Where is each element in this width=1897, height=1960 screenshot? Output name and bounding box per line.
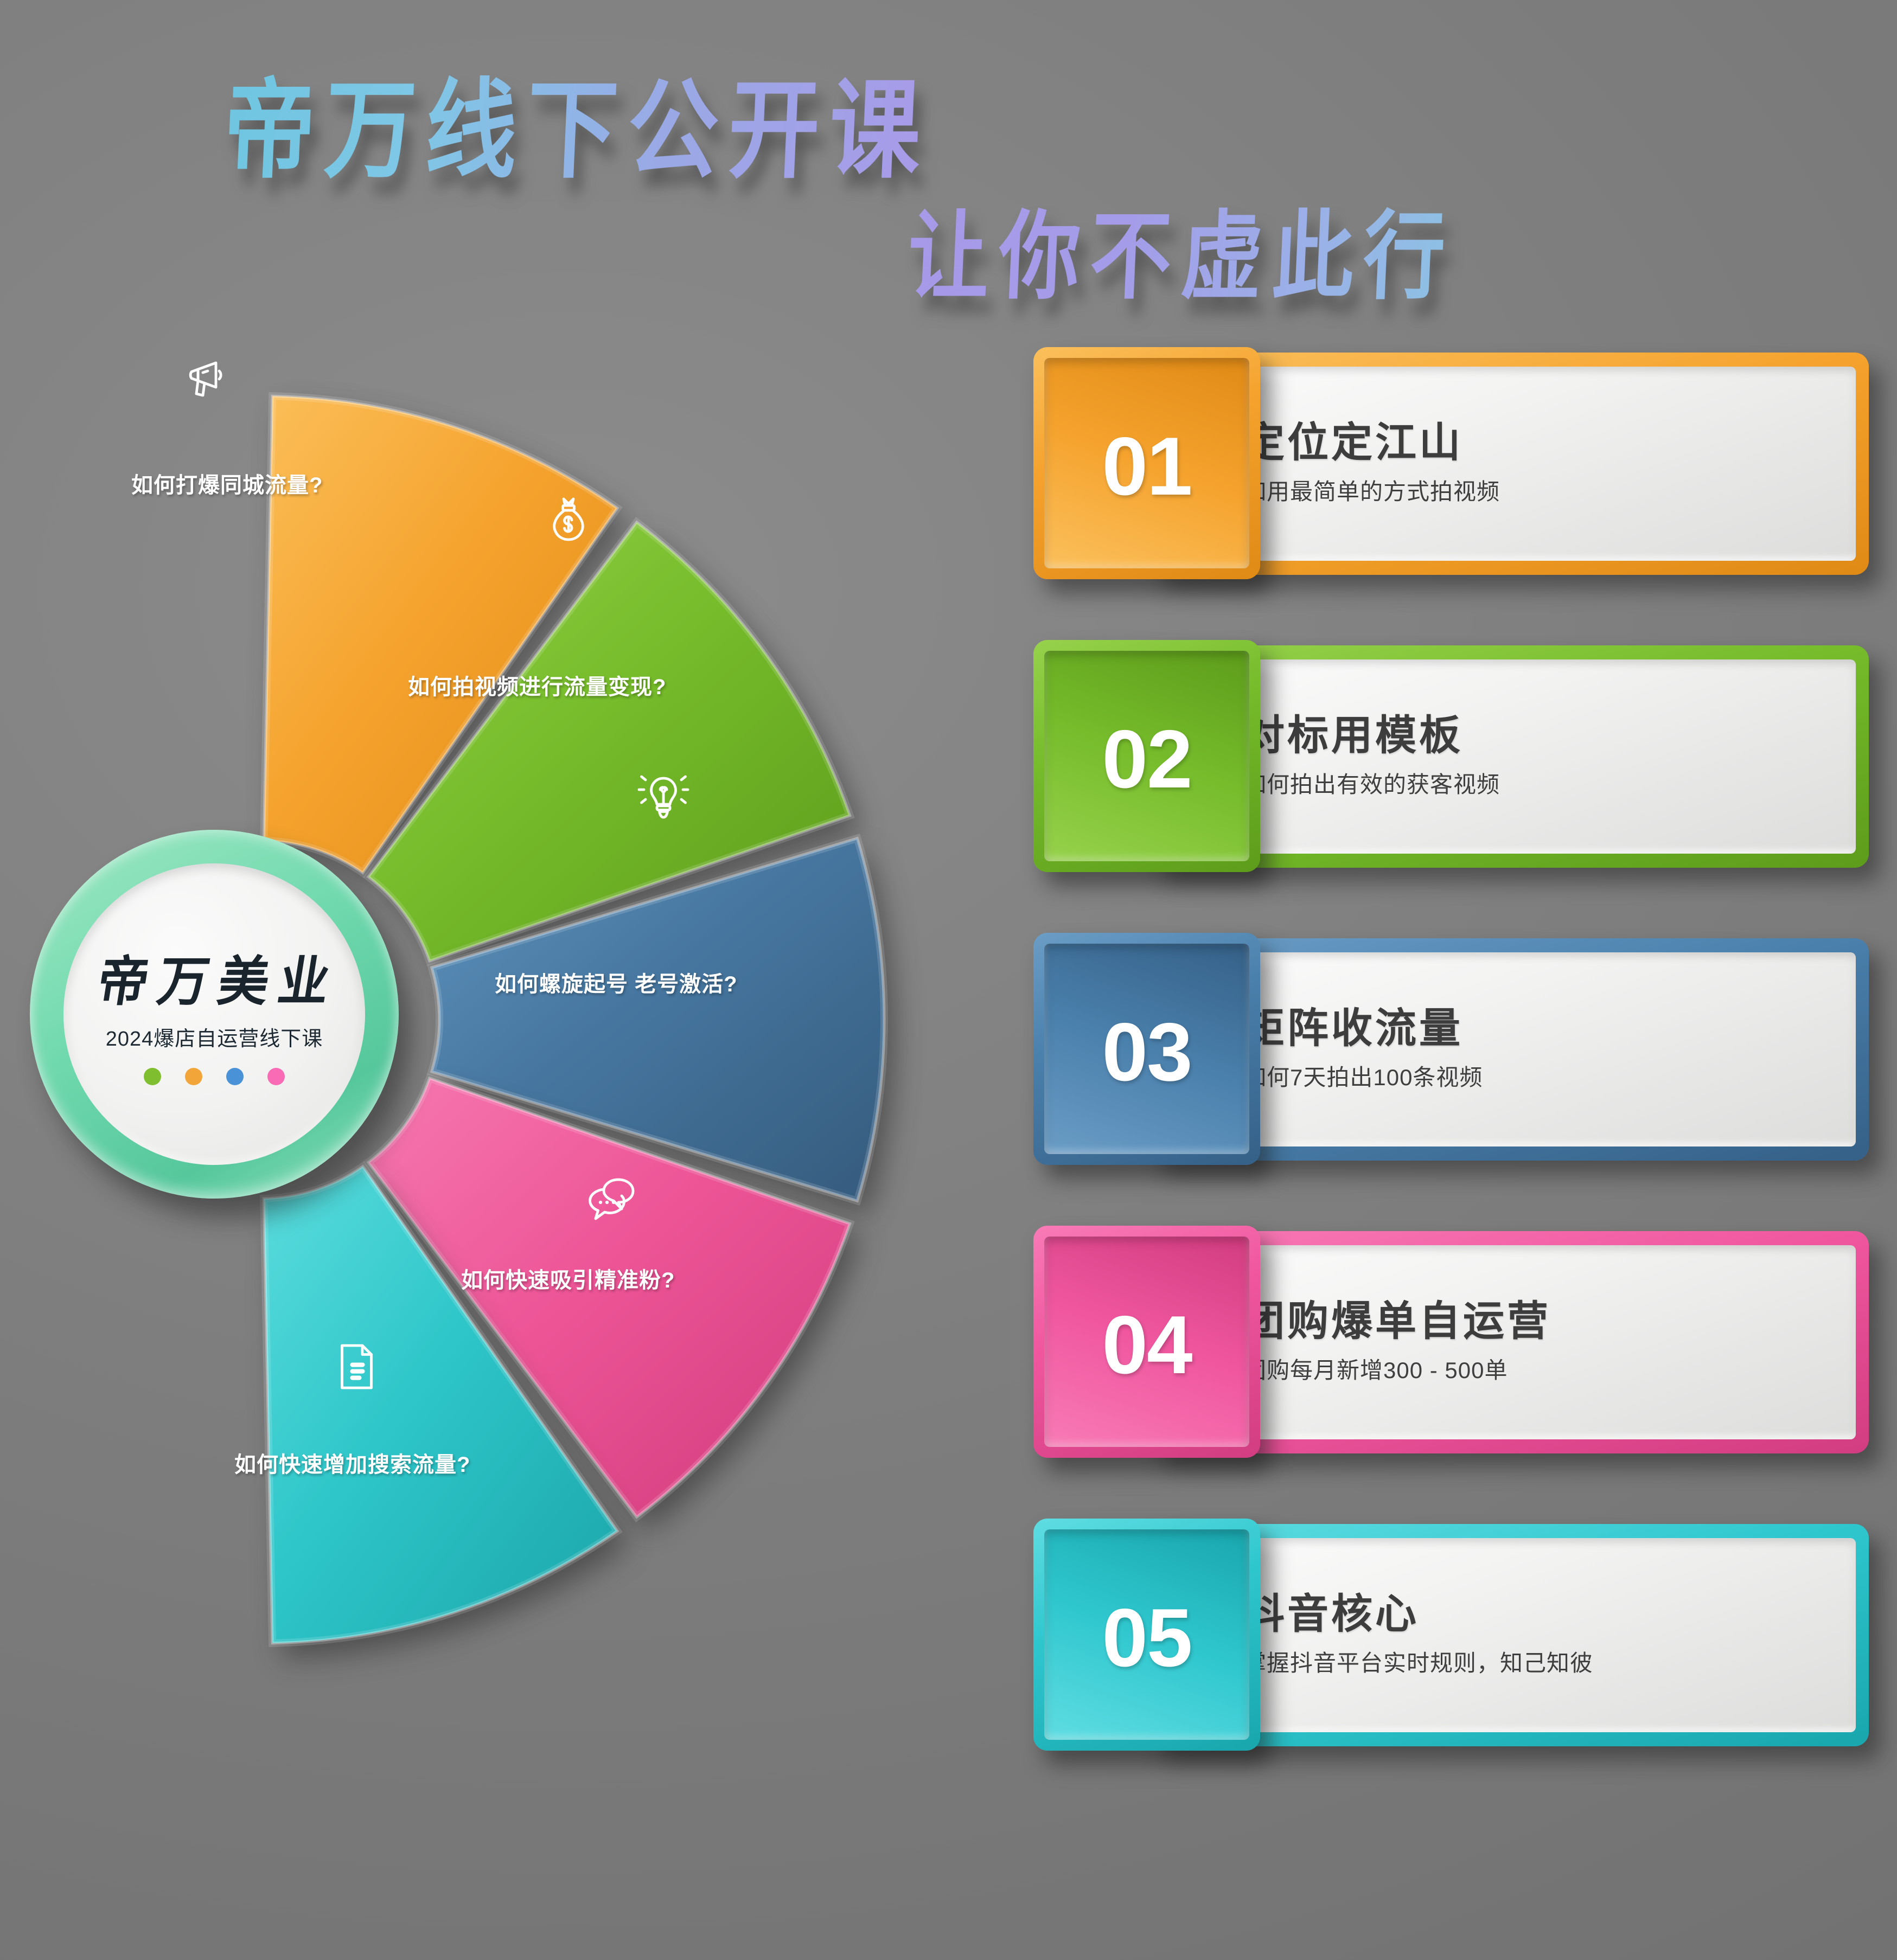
brand-dot-3 <box>267 1068 285 1085</box>
course-card-05[interactable]: 抖音核心掌握抖音平台实时规则，知己知彼05 <box>1033 1519 1869 1751</box>
course-card-title-05: 抖音核心 <box>1243 1592 1856 1637</box>
course-card-subtitle-01: 如用最简单的方式拍视频 <box>1243 473 1856 507</box>
course-card-02[interactable]: 对标用模板如何拍出有效的获客视频02 <box>1033 640 1869 872</box>
course-card-number-inner-04: 04 <box>1044 1237 1249 1447</box>
course-card-number-03: 03 <box>1102 1011 1191 1093</box>
fan-label-2: 如何螺旋起号 老号激活? <box>495 966 738 998</box>
course-card-title-03: 矩阵收流量 <box>1243 1007 1856 1051</box>
page-title-line2: 让你不虚此行 <box>905 179 1458 318</box>
course-card-panel-02: 对标用模板如何拍出有效的获客视频 <box>1163 659 1856 854</box>
course-card-number-inner-01: 01 <box>1044 358 1249 568</box>
page-title-line1: 帝万线下公开课 <box>221 43 934 199</box>
fan-label-3: 如何快速吸引精准粉? <box>461 1263 675 1294</box>
course-card-number-05: 05 <box>1102 1597 1191 1679</box>
brand-dots <box>144 1068 285 1085</box>
cards-list: 定位定江山如用最简单的方式拍视频01对标用模板如何拍出有效的获客视频02矩阵收流… <box>1033 347 1869 1811</box>
course-card-panel-01: 定位定江山如用最简单的方式拍视频 <box>1163 367 1856 561</box>
brand-dot-1 <box>185 1068 202 1085</box>
course-card-number-inner-03: 03 <box>1044 944 1249 1154</box>
document-icon <box>330 1341 382 1393</box>
course-card-number-tab-03[interactable]: 03 <box>1033 933 1260 1165</box>
course-card-subtitle-02: 如何拍出有效的获客视频 <box>1243 766 1856 799</box>
brand-subtitle: 2024爆店自运营线下课 <box>106 1022 323 1052</box>
money-bag-icon <box>542 492 595 545</box>
course-card-03[interactable]: 矩阵收流量如何7天拍出100条视频03 <box>1033 933 1869 1165</box>
page-title-block: 帝万线下公开课 让你不虚此行 <box>0 0 1897 347</box>
course-card-number-inner-05: 05 <box>1044 1529 1249 1740</box>
course-card-number-tab-01[interactable]: 01 <box>1033 347 1260 579</box>
brand-name: 帝万美业 <box>94 955 343 1008</box>
course-card-title-04: 团购爆单自运营 <box>1243 1299 1856 1344</box>
center-badge: 帝万美业 2024爆店自运营线下课 <box>30 830 399 1199</box>
course-card-title-01: 定位定江山 <box>1243 421 1856 465</box>
course-card-04[interactable]: 团购爆单自运营团购每月新增300 - 500单04 <box>1033 1226 1869 1458</box>
course-card-number-tab-02[interactable]: 02 <box>1033 640 1260 872</box>
course-card-number-04: 04 <box>1102 1304 1191 1386</box>
fan-label-0: 如何打爆同城流量? <box>131 467 323 499</box>
course-card-number-tab-05[interactable]: 05 <box>1033 1519 1260 1751</box>
course-card-number-02: 02 <box>1102 718 1191 800</box>
course-card-subtitle-05: 掌握抖音平台实时规则，知己知彼 <box>1243 1645 1856 1678</box>
course-card-panel-05: 抖音核心掌握抖音平台实时规则，知己知彼 <box>1163 1538 1856 1732</box>
course-card-number-01: 01 <box>1102 425 1191 508</box>
brand-dot-2 <box>226 1068 244 1085</box>
brand-dot-0 <box>144 1068 161 1085</box>
lightbulb-icon <box>637 770 689 822</box>
course-card-panel-03: 矩阵收流量如何7天拍出100条视频 <box>1163 952 1856 1146</box>
fan-label-4: 如何快速增加搜索流量? <box>234 1447 470 1478</box>
fan-label-1: 如何拍视频进行流量变现? <box>408 669 666 701</box>
center-badge-inner: 帝万美业 2024爆店自运营线下课 <box>63 863 365 1165</box>
course-card-number-tab-04[interactable]: 04 <box>1033 1226 1260 1458</box>
course-card-title-02: 对标用模板 <box>1243 714 1856 758</box>
course-card-subtitle-04: 团购每月新增300 - 500单 <box>1243 1352 1856 1385</box>
course-card-subtitle-03: 如何7天拍出100条视频 <box>1243 1059 1856 1092</box>
megaphone-icon <box>180 351 232 403</box>
chat-bubbles-icon <box>586 1171 638 1224</box>
course-card-panel-04: 团购爆单自运营团购每月新增300 - 500单 <box>1163 1245 1856 1439</box>
course-card-number-inner-02: 02 <box>1044 651 1249 861</box>
course-card-01[interactable]: 定位定江山如用最简单的方式拍视频01 <box>1033 347 1869 579</box>
